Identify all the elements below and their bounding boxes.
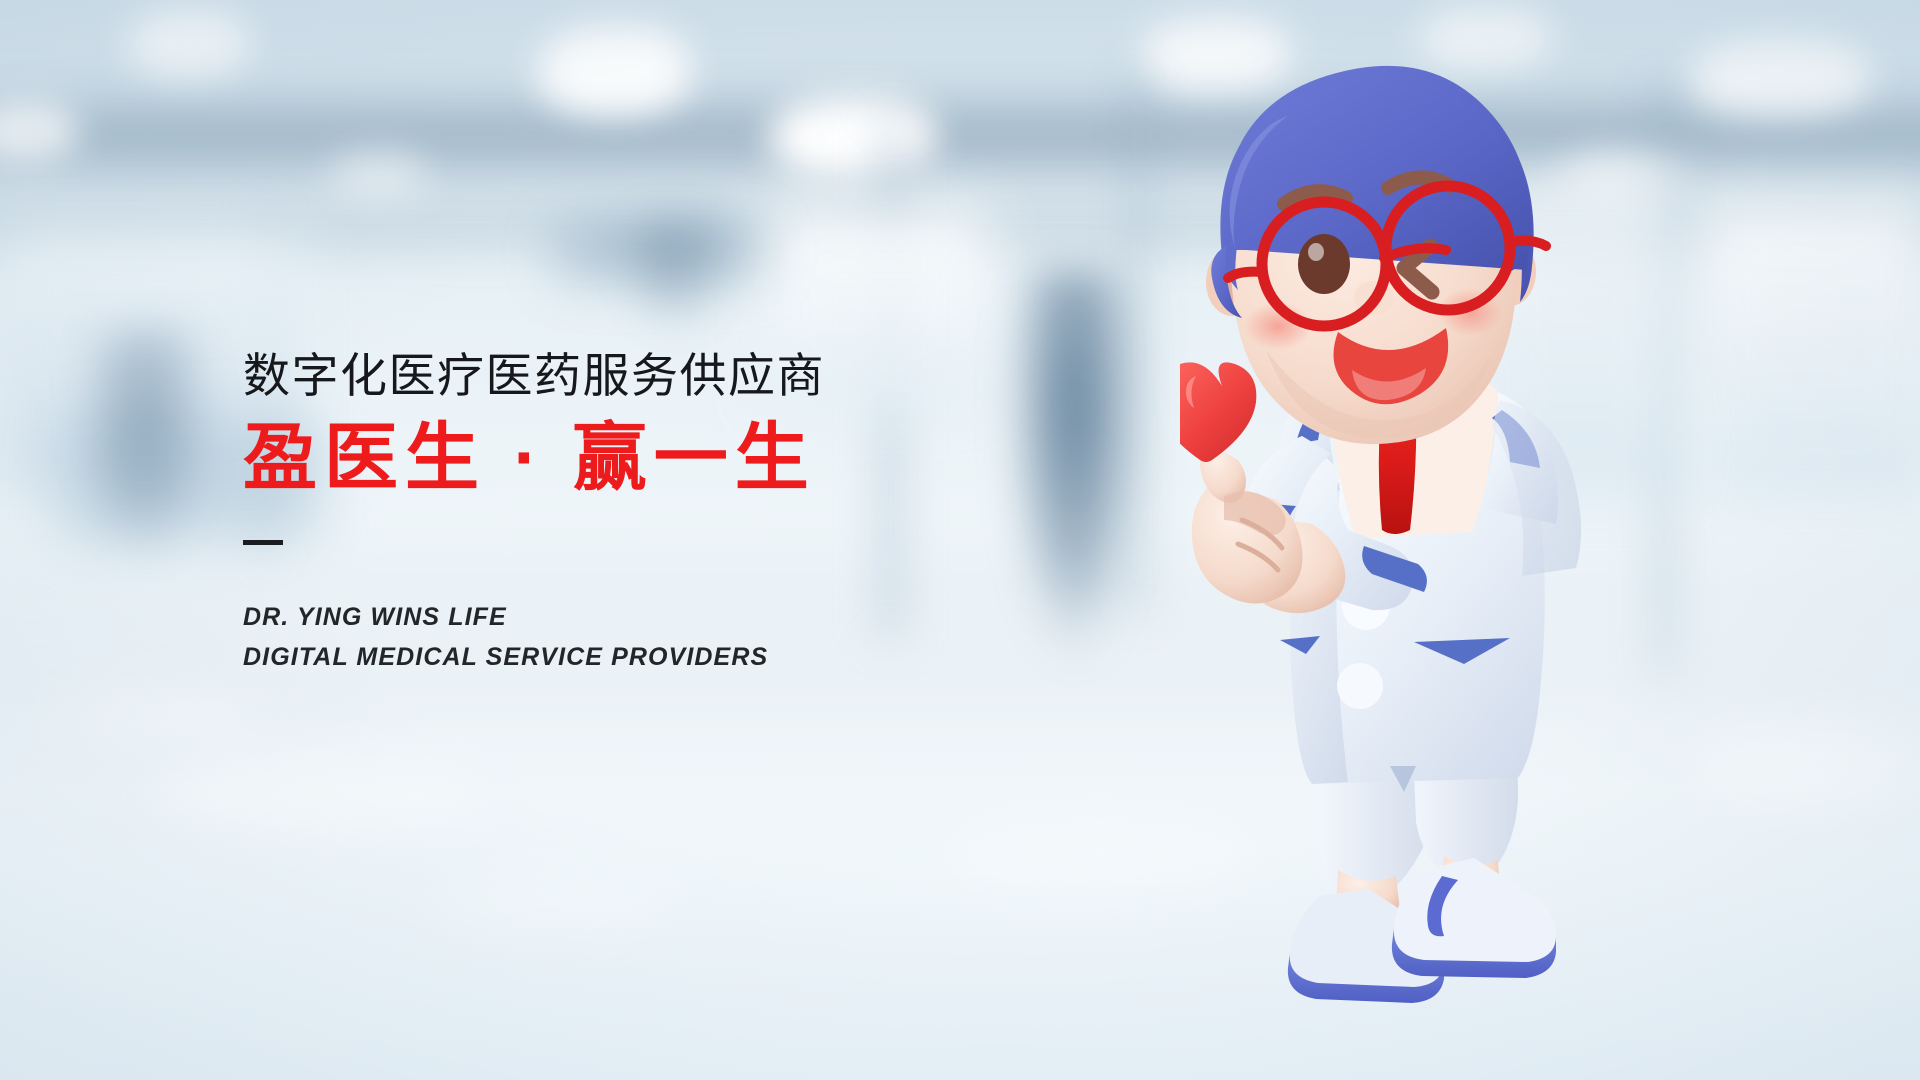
front-shoe	[1394, 858, 1556, 962]
hero-banner: 数字化医疗医药服务供应商 盈医生 · 赢一生 DR. YING WINS LIF…	[0, 0, 1920, 1080]
open-eye-highlight	[1308, 243, 1324, 261]
coat-button	[1337, 663, 1383, 709]
glasses-temple-right	[1510, 241, 1546, 246]
doctor-mascot-illustration	[1180, 50, 1700, 1060]
shoes-group	[1288, 858, 1556, 1003]
hero-copy-block: 数字化医疗医药服务供应商 盈医生 · 赢一生 DR. YING WINS LIF…	[243, 350, 1003, 678]
hero-headline: 盈医生 · 赢一生	[243, 417, 1003, 500]
open-eye	[1298, 234, 1350, 294]
hero-english-line-1: DR. YING WINS LIFE	[243, 597, 1003, 638]
hero-english-line-2: DIGITAL MEDICAL SERVICE PROVIDERS	[243, 637, 1003, 678]
head-group	[1206, 66, 1546, 444]
floating-heart-icon	[1180, 362, 1256, 462]
divider-rule	[243, 540, 283, 545]
hero-kicker: 数字化医疗医药服务供应商	[243, 350, 1003, 403]
